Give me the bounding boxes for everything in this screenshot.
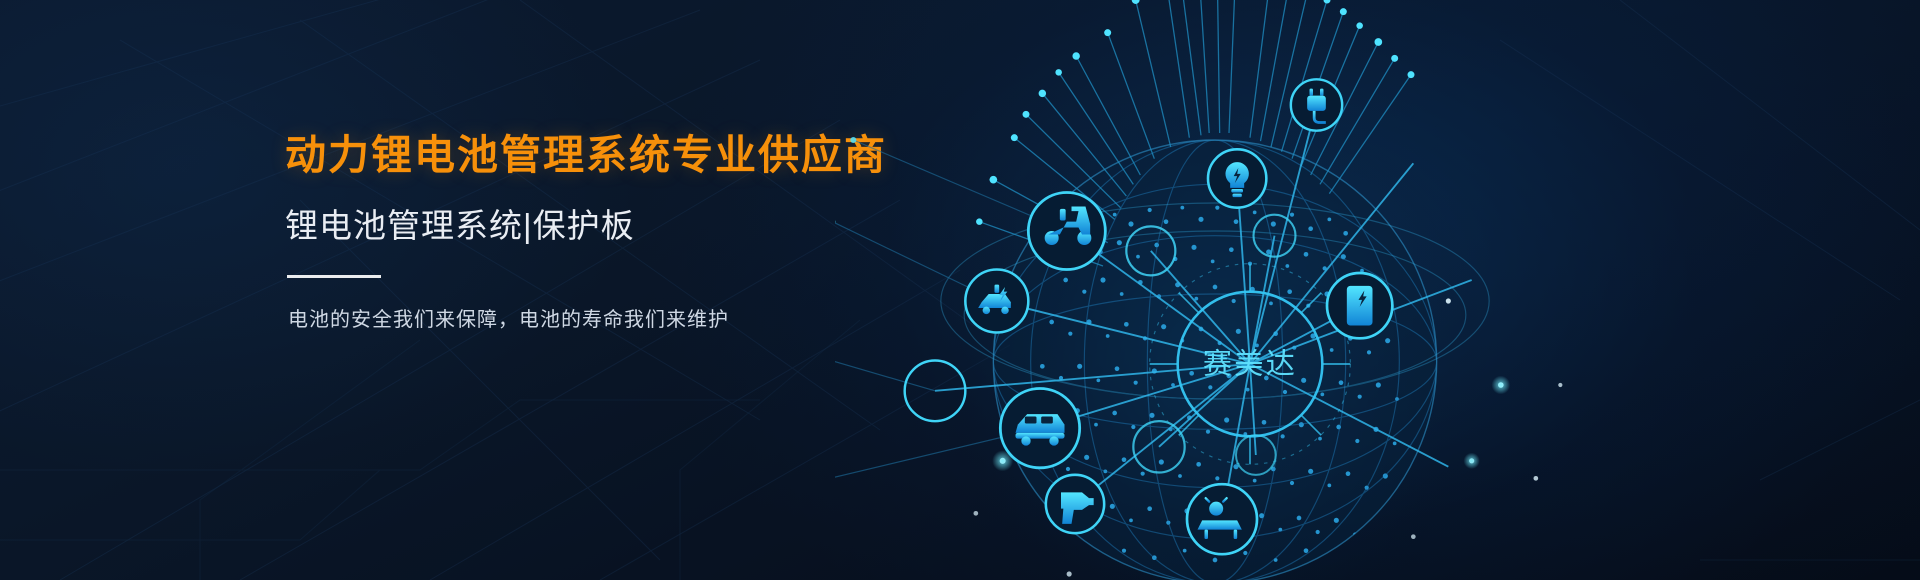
hero-text-block: 动力锂电池管理系统专业供应商 锂电池管理系统|保护板 电池的安全我们来保障，电池… (285, 130, 845, 334)
solar-bench-icon[interactable] (1187, 484, 1257, 554)
page-title: 动力锂电池管理系统专业供应商 (285, 130, 845, 180)
car-icon[interactable] (1000, 389, 1079, 468)
phone-battery-icon[interactable] (1327, 273, 1392, 338)
hub-label: 赛美达 (1203, 347, 1297, 380)
hero-banner: 动力锂电池管理系统专业供应商 锂电池管理系统|保护板 电池的安全我们来保障，电池… (0, 0, 1920, 580)
scooter-icon[interactable] (1028, 193, 1105, 270)
hero-tagline: 电池的安全我们来保障，电池的寿命我们来维护 (288, 306, 845, 334)
drill-icon[interactable] (1046, 475, 1104, 533)
network-globe-illustration: 赛美达 (835, 0, 1595, 580)
ev-charge-icon[interactable] (965, 270, 1028, 333)
lightbulb-icon[interactable] (1208, 149, 1266, 207)
plug-icon[interactable] (1291, 79, 1342, 130)
divider-rule (287, 275, 381, 278)
hero-subtitle: 锂电池管理系统|保护板 (285, 206, 845, 246)
